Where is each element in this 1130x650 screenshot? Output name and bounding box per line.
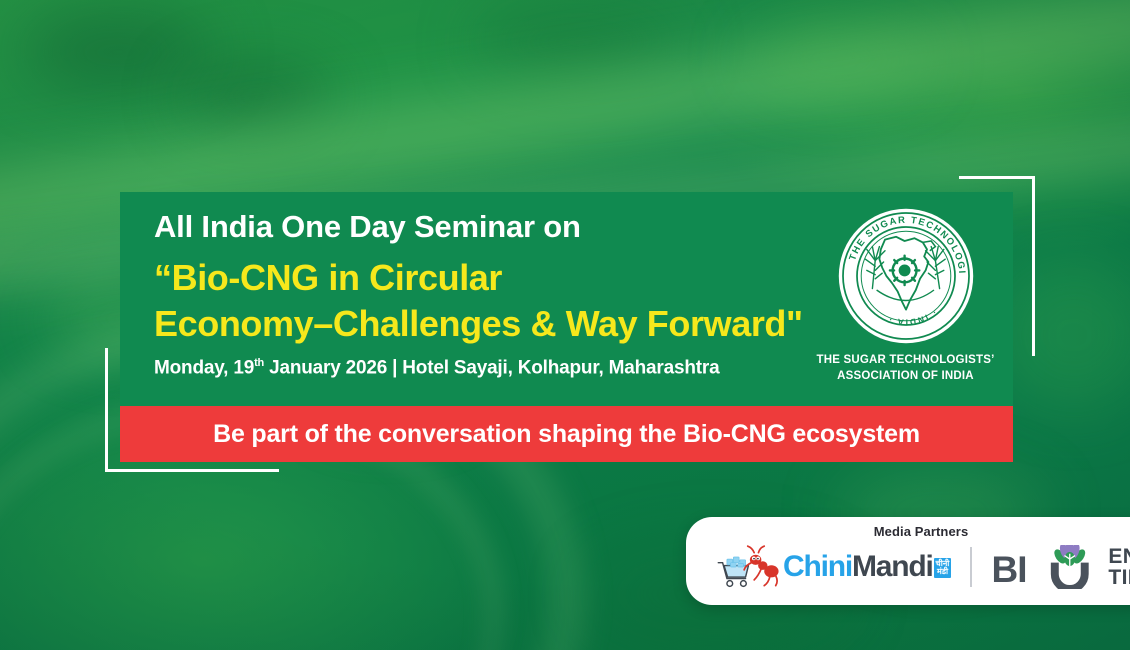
bio-word-times: TIMES — [1108, 567, 1130, 588]
chinimandi-wordmark: ChiniMandiचीनी मंडी — [783, 552, 951, 582]
seminar-title-line-1: “Bio-CNG in Circular — [154, 259, 798, 297]
bio-energy-times-wordmark: ENERGY TIMES — [1108, 546, 1130, 588]
event-date-suffix: January 2026 — [264, 357, 387, 378]
date-venue-separator: | — [387, 357, 402, 378]
bio-leaf-mark-icon: BI — [991, 545, 1101, 589]
event-title-text-block: All India One Day Seminar on “Bio-CNG in… — [120, 192, 798, 406]
organizer-name: THE SUGAR TECHNOLOGISTS’ ASSOCIATION OF … — [817, 353, 995, 384]
call-to-action-text: Be part of the conversation shaping the … — [213, 420, 920, 449]
chinimandi-word-chini: Chini — [783, 550, 852, 583]
media-partners-title: Media Partners — [686, 524, 1130, 539]
event-title-panel: All India One Day Seminar on “Bio-CNG in… — [120, 192, 1013, 406]
media-partners-logos: ChiniMandiचीनी मंडी BI — [686, 541, 1130, 593]
event-date-ordinal: th — [254, 357, 264, 369]
media-partners-card: Media Partners — [686, 517, 1130, 605]
organizer-name-line-1: THE SUGAR TECHNOLOGISTS’ — [817, 353, 995, 369]
event-venue: Hotel Sayaji, Kolhapur, Maharashtra — [402, 357, 719, 378]
bio-energy-times-logo[interactable]: BI ENERGY TIMES — [991, 545, 1130, 589]
seminar-subtitle: All India One Day Seminar on — [154, 211, 798, 243]
chinimandi-word-mandi: Mandi — [852, 550, 933, 583]
organizer-logo-block: THE SUGAR TECHNOLOGISTS’ ASSOCIATION · I… — [798, 192, 1013, 406]
organizer-name-line-2: ASSOCIATION OF INDIA — [817, 369, 995, 385]
media-partner-divider — [970, 547, 972, 587]
bio-word-energy: ENERGY — [1108, 546, 1130, 567]
chinimandi-hindi-badge: चीनी मंडी — [934, 558, 952, 578]
call-to-action-strip: Be part of the conversation shaping the … — [120, 406, 1013, 462]
event-date-prefix: Monday, 19 — [154, 357, 254, 378]
bio-letters-bi: BI — [992, 549, 1027, 589]
seminar-title-line-2: Economy–Challenges & Way Forward" — [154, 305, 798, 343]
event-date-venue: Monday, 19th January 2026|Hotel Sayaji, … — [154, 357, 798, 379]
stai-seal-icon: THE SUGAR TECHNOLOGISTS’ ASSOCIATION · I… — [836, 206, 976, 346]
event-banner: All India One Day Seminar on “Bio-CNG in… — [0, 0, 1130, 650]
chinimandi-logo[interactable]: ChiniMandiचीनी मंडी — [714, 544, 951, 590]
ant-with-sugar-cart-icon — [714, 544, 780, 590]
